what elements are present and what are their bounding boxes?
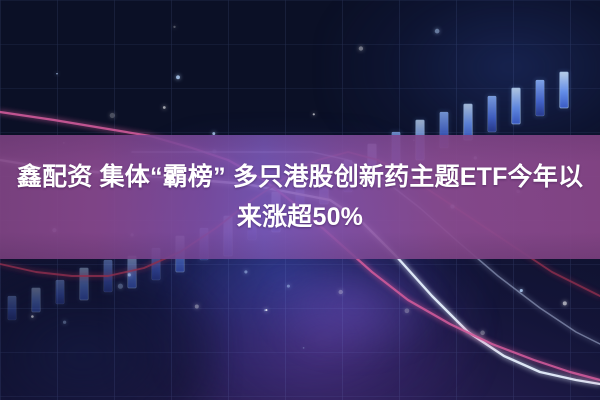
page-title: 鑫配资 集体“霸榜” 多只港股创新药主题ETF今年以来涨超50%	[10, 157, 590, 237]
banner-image: 鑫配资 集体“霸榜” 多只港股创新药主题ETF今年以来涨超50%	[0, 0, 600, 400]
headline-band: 鑫配资 集体“霸榜” 多只港股创新药主题ETF今年以来涨超50%	[0, 135, 600, 259]
